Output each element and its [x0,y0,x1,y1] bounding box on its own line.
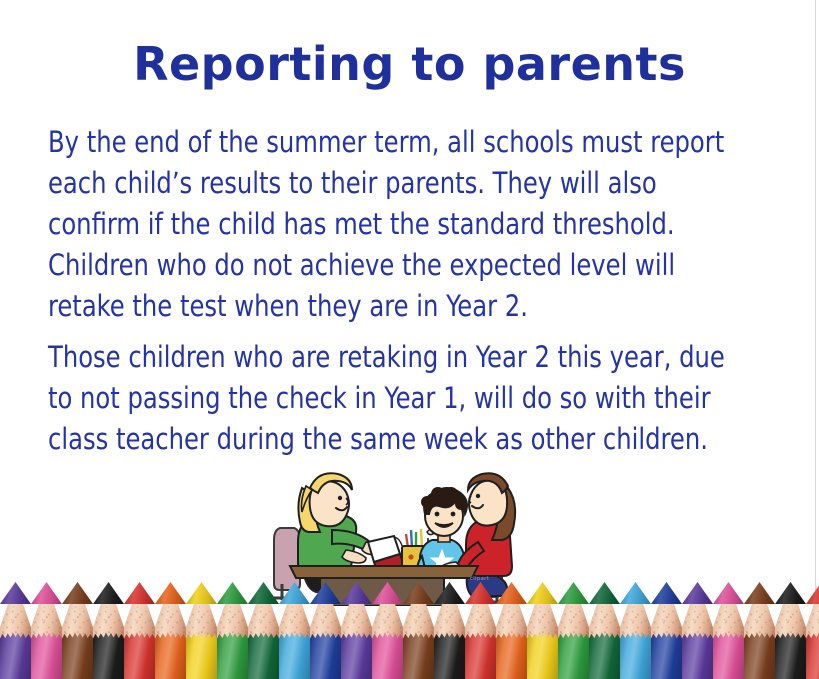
paragraph-2: Those children who are retaking in Year … [48,337,727,460]
pencil-barrel [0,632,31,679]
pencil-lead-tip [434,582,465,604]
pencil-barrel [465,632,496,679]
pencil-brown [62,582,93,679]
pencil-red [806,582,819,679]
pencil-black [775,582,806,679]
pencil-red [124,582,155,679]
pencil-lead-tip [558,582,589,604]
pencil-lead-tip [341,582,372,604]
pencil-lead-tip [279,582,310,604]
pencil-dark-green [248,582,279,679]
pencil-lead-tip [186,582,217,604]
pencil-yellow [186,582,217,679]
pencil-yellow [527,582,558,679]
slide: Reporting to parents By the end of the s… [0,0,819,679]
pencil-purple [0,582,31,679]
pencil-pink [713,582,744,679]
pencil-barrel [279,632,310,679]
pencil-lead-tip [62,582,93,604]
pencil-barrel [589,632,620,679]
pencil-barrel [217,632,248,679]
pencil-barrel [527,632,558,679]
pencil-lead-tip [248,582,279,604]
pencil-black [93,582,124,679]
pencil-barrel [744,632,775,679]
pencil-barrel [310,632,341,679]
pencil-barrel [775,632,806,679]
pencil-red [465,582,496,679]
pencil-lead-tip [589,582,620,604]
pencil-barrel [124,632,155,679]
pencil-barrel [372,632,403,679]
pencil-lead-tip [806,582,819,604]
pencil-lead-tip [310,582,341,604]
pencil-border [0,582,819,679]
pencil-blue [310,582,341,679]
pencil-dark-green [589,582,620,679]
pencil-lead-tip [372,582,403,604]
pencil-barrel [403,632,434,679]
pencil-lead-tip [527,582,558,604]
pencil-purple [341,582,372,679]
pencil-lead-tip [155,582,186,604]
pencil-barrel [558,632,589,679]
pencil-orange [155,582,186,679]
pencil-barrel [496,632,527,679]
pencil-lead-tip [620,582,651,604]
pencil-barrel [62,632,93,679]
pencil-lead-tip [713,582,744,604]
pencil-lead-tip [93,582,124,604]
pencil-black [434,582,465,679]
pencil-barrel [155,632,186,679]
pencil-lead-tip [124,582,155,604]
pencil-barrel [651,632,682,679]
pencil-barrel [713,632,744,679]
pencil-barrel [93,632,124,679]
pencil-barrel [248,632,279,679]
pencil-lead-tip [0,582,31,604]
pencil-barrel [620,632,651,679]
pencil-light-blue [620,582,651,679]
pencil-pink [31,582,62,679]
pencil-barrel [31,632,62,679]
pencil-green [217,582,248,679]
pencil-brown [403,582,434,679]
pencil-lead-tip [651,582,682,604]
pencil-lead-tip [217,582,248,604]
pencil-lead-tip [744,582,775,604]
pencil-barrel [341,632,372,679]
pencil-light-blue [279,582,310,679]
body-text: By the end of the summer term, all schoo… [48,122,727,462]
pencil-blue [651,582,682,679]
pencil-pink [372,582,403,679]
pencil-lead-tip [496,582,527,604]
pencil-barrel [434,632,465,679]
slide-edge-line [815,0,816,679]
pencil-green [558,582,589,679]
pencil-brown [744,582,775,679]
pencil-purple [682,582,713,679]
pencil-lead-tip [682,582,713,604]
pencil-barrel [806,632,819,679]
pencil-lead-tip [403,582,434,604]
pencil-barrel [682,632,713,679]
pencil-barrel [186,632,217,679]
pencil-lead-tip [775,582,806,604]
page-title: Reporting to parents [0,36,819,92]
pencil-lead-tip [465,582,496,604]
paragraph-1: By the end of the summer term, all schoo… [48,122,727,327]
pencil-lead-tip [31,582,62,604]
pencil-orange [496,582,527,679]
